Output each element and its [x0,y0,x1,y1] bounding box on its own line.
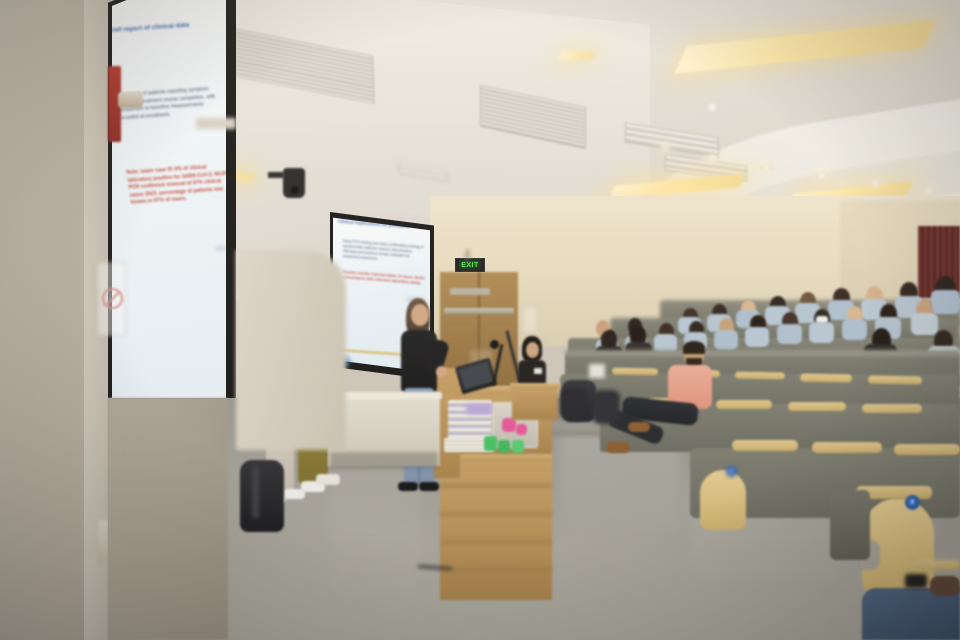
paper-on-desk [589,364,605,378]
backpack [592,390,620,424]
audience-person [714,330,738,350]
seat-armrest [735,372,785,380]
attendee-pink-shoe [606,442,630,453]
main-slide-title: Brief report of clinical data [112,19,209,35]
seat-armrest [732,440,798,451]
main-slide-highlight: Note: lower case 97.0% of clinical labor… [126,163,226,207]
ceiling-camera-mount [268,172,284,178]
exit-sign-conduit [466,250,469,259]
smoke-detector-icon [705,103,719,112]
audience-person [777,324,802,344]
attendee-pink-shoe [628,422,650,432]
foreground-person-phone [905,574,927,588]
backpack-strap [252,466,259,518]
exit-sign-label: EXIT [461,262,479,269]
downlight-9 [660,144,671,150]
fire-alarm-strobe-lens [118,92,143,108]
accessible-glyph: ♿ [909,499,916,506]
standing-person-b-shoe [316,474,340,485]
lecture-hall-photo: Brief report of clinical data Percentage… [0,0,960,640]
podium-step-line [442,568,552,571]
seat-armrest [894,444,960,455]
wall-panel [522,306,538,334]
seat-row-4-top [565,350,960,356]
exit-door-closer [450,288,490,295]
audience-person [745,327,769,347]
second-slide-bullet-2: Positive results returned within 24 hour… [338,270,425,287]
bin-contents-pink [502,418,516,432]
seat-armrest [868,376,922,385]
side-desk-top [510,383,560,389]
downlight-1 [706,155,719,162]
second-slide-bullet-1: Early PCR testing and early confirmatory… [338,239,425,266]
curved-front-wall [236,250,346,450]
podium-step-line [440,484,552,487]
bin-contents-green [498,440,510,453]
side-attendee-badge [534,368,542,374]
side-desk [512,386,558,420]
seat-armrest [862,404,922,413]
ceiling-light-strip-6 [558,51,595,60]
front-ledge-shadow [330,452,438,468]
seat-armrest [612,368,658,376]
attendee-pink-hair-icon [683,341,705,354]
presenter-hand [436,366,447,377]
seat-foreground[interactable] [830,490,870,560]
presenter-shoe [398,482,418,491]
accessible-seat-icon: ♿ [726,466,737,477]
bin-contents-green [512,440,524,453]
presenter-head [411,304,429,326]
downlight-5 [922,187,935,194]
seat-armrest [788,402,846,411]
no-smoking-sign-plate [97,262,126,336]
floor-reflection-3 [330,470,420,610]
audience-person [809,322,834,343]
audience-person [842,319,867,340]
bin-contents-pink [516,424,527,435]
backpack-floor [240,460,284,532]
accessible-seat-icon: ♿ [905,495,920,510]
main-slide-footnote: Slide 17 of 42 [138,244,226,256]
seat-armrest [800,374,852,383]
projector-mount [196,118,236,129]
seat-end-panel [700,470,746,530]
seat-armrest [812,442,882,453]
exit-sign: EXIT [455,258,485,272]
podium-step-line [441,540,552,543]
bin-contents-green [484,436,497,451]
downlight-2 [760,164,773,171]
downlight-3 [815,172,828,179]
podium-step-line [440,512,552,515]
audience-person [911,313,938,335]
audience-person [931,290,960,314]
backpack [560,388,588,420]
side-attendee-head [526,342,539,358]
exit-door-push-bar[interactable] [444,308,514,314]
downlight-4 [869,180,882,187]
microphone-head-icon [490,340,499,349]
foreground-person-hand [930,576,960,596]
seat-tablet-arm [916,560,960,570]
accessible-glyph: ♿ [728,469,734,475]
ceiling-camera-lens-icon [291,186,299,194]
bin-contents-purple [466,404,492,414]
seat-armrest [716,400,772,409]
presenter-shoe [419,482,439,491]
floor-wall-base [108,398,228,640]
